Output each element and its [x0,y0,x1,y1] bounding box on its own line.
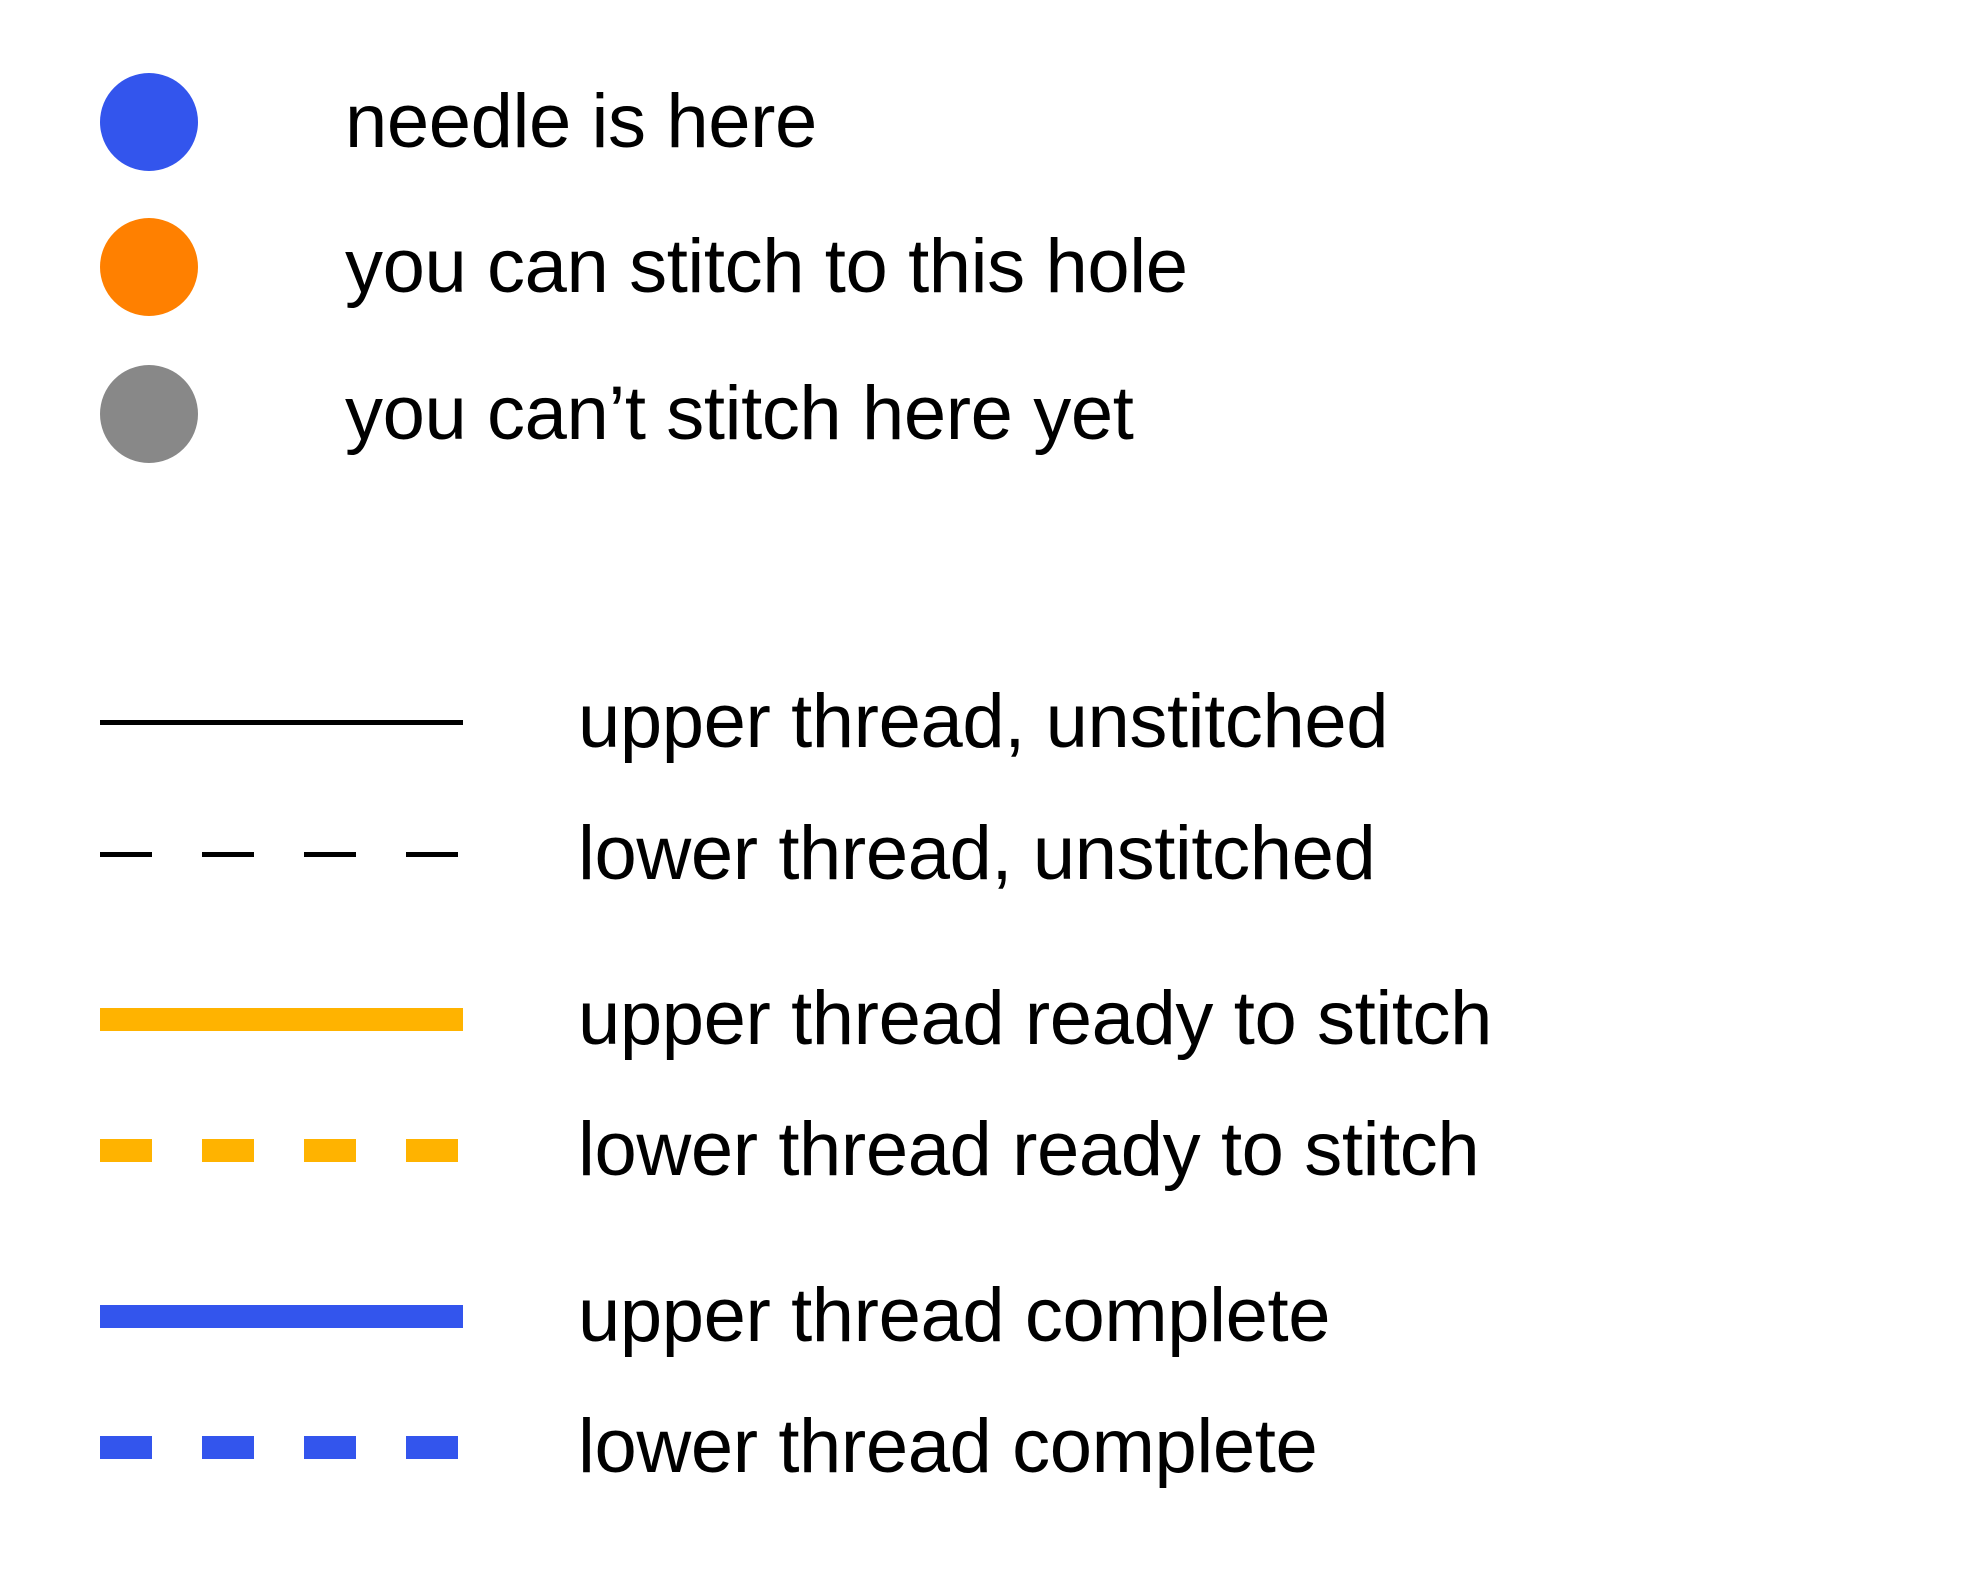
legend-entry-stitchable-hole: you can stitch to this hole [0,218,1965,318]
legend-entry-upper-thread-ready: upper thread ready to stitch [0,971,1965,1067]
solid-line-icon [100,720,463,725]
dashed-line-icon [100,1436,463,1459]
legend-entry-lower-thread-unstitched: lower thread, unstitched [0,806,1965,902]
dashed-line-icon [100,852,463,857]
legend-label-lower-thread-complete: lower thread complete [578,1399,1317,1495]
legend-label-needle-here: needle is here [345,73,817,171]
legend-label-not-stitchable-yet: you can’t stitch here yet [345,365,1133,463]
dashed-line-icon [100,1139,463,1162]
legend-label-upper-thread-complete: upper thread complete [578,1268,1330,1364]
not-stitchable-yet-swatch [100,365,198,463]
stitchable-hole-swatch [100,218,198,316]
legend-label-lower-thread-unstitched: lower thread, unstitched [578,806,1375,902]
blue-circle-icon [100,73,198,171]
lower-thread-complete-swatch [100,1399,463,1495]
legend-label-lower-thread-ready: lower thread ready to stitch [578,1102,1479,1198]
legend-entry-not-stitchable-yet: you can’t stitch here yet [0,365,1965,465]
upper-thread-ready-swatch [100,971,463,1067]
lower-thread-unstitched-swatch [100,806,463,902]
gray-circle-icon [100,365,198,463]
legend-label-stitchable-hole: you can stitch to this hole [345,218,1188,316]
needle-here-swatch [100,73,198,171]
legend-entry-lower-thread-ready: lower thread ready to stitch [0,1102,1965,1198]
lower-thread-ready-swatch [100,1102,463,1198]
legend-entry-lower-thread-complete: lower thread complete [0,1399,1965,1495]
upper-thread-complete-swatch [100,1268,463,1364]
stitching-legend: needle is here you can stitch to this ho… [0,0,1965,1589]
legend-entry-upper-thread-unstitched: upper thread, unstitched [0,674,1965,770]
solid-line-icon [100,1305,463,1328]
legend-entry-needle-here: needle is here [0,73,1965,173]
legend-label-upper-thread-ready: upper thread ready to stitch [578,971,1492,1067]
solid-line-icon [100,1008,463,1031]
legend-label-upper-thread-unstitched: upper thread, unstitched [578,674,1388,770]
legend-entry-upper-thread-complete: upper thread complete [0,1268,1965,1364]
orange-circle-icon [100,218,198,316]
upper-thread-unstitched-swatch [100,674,463,770]
